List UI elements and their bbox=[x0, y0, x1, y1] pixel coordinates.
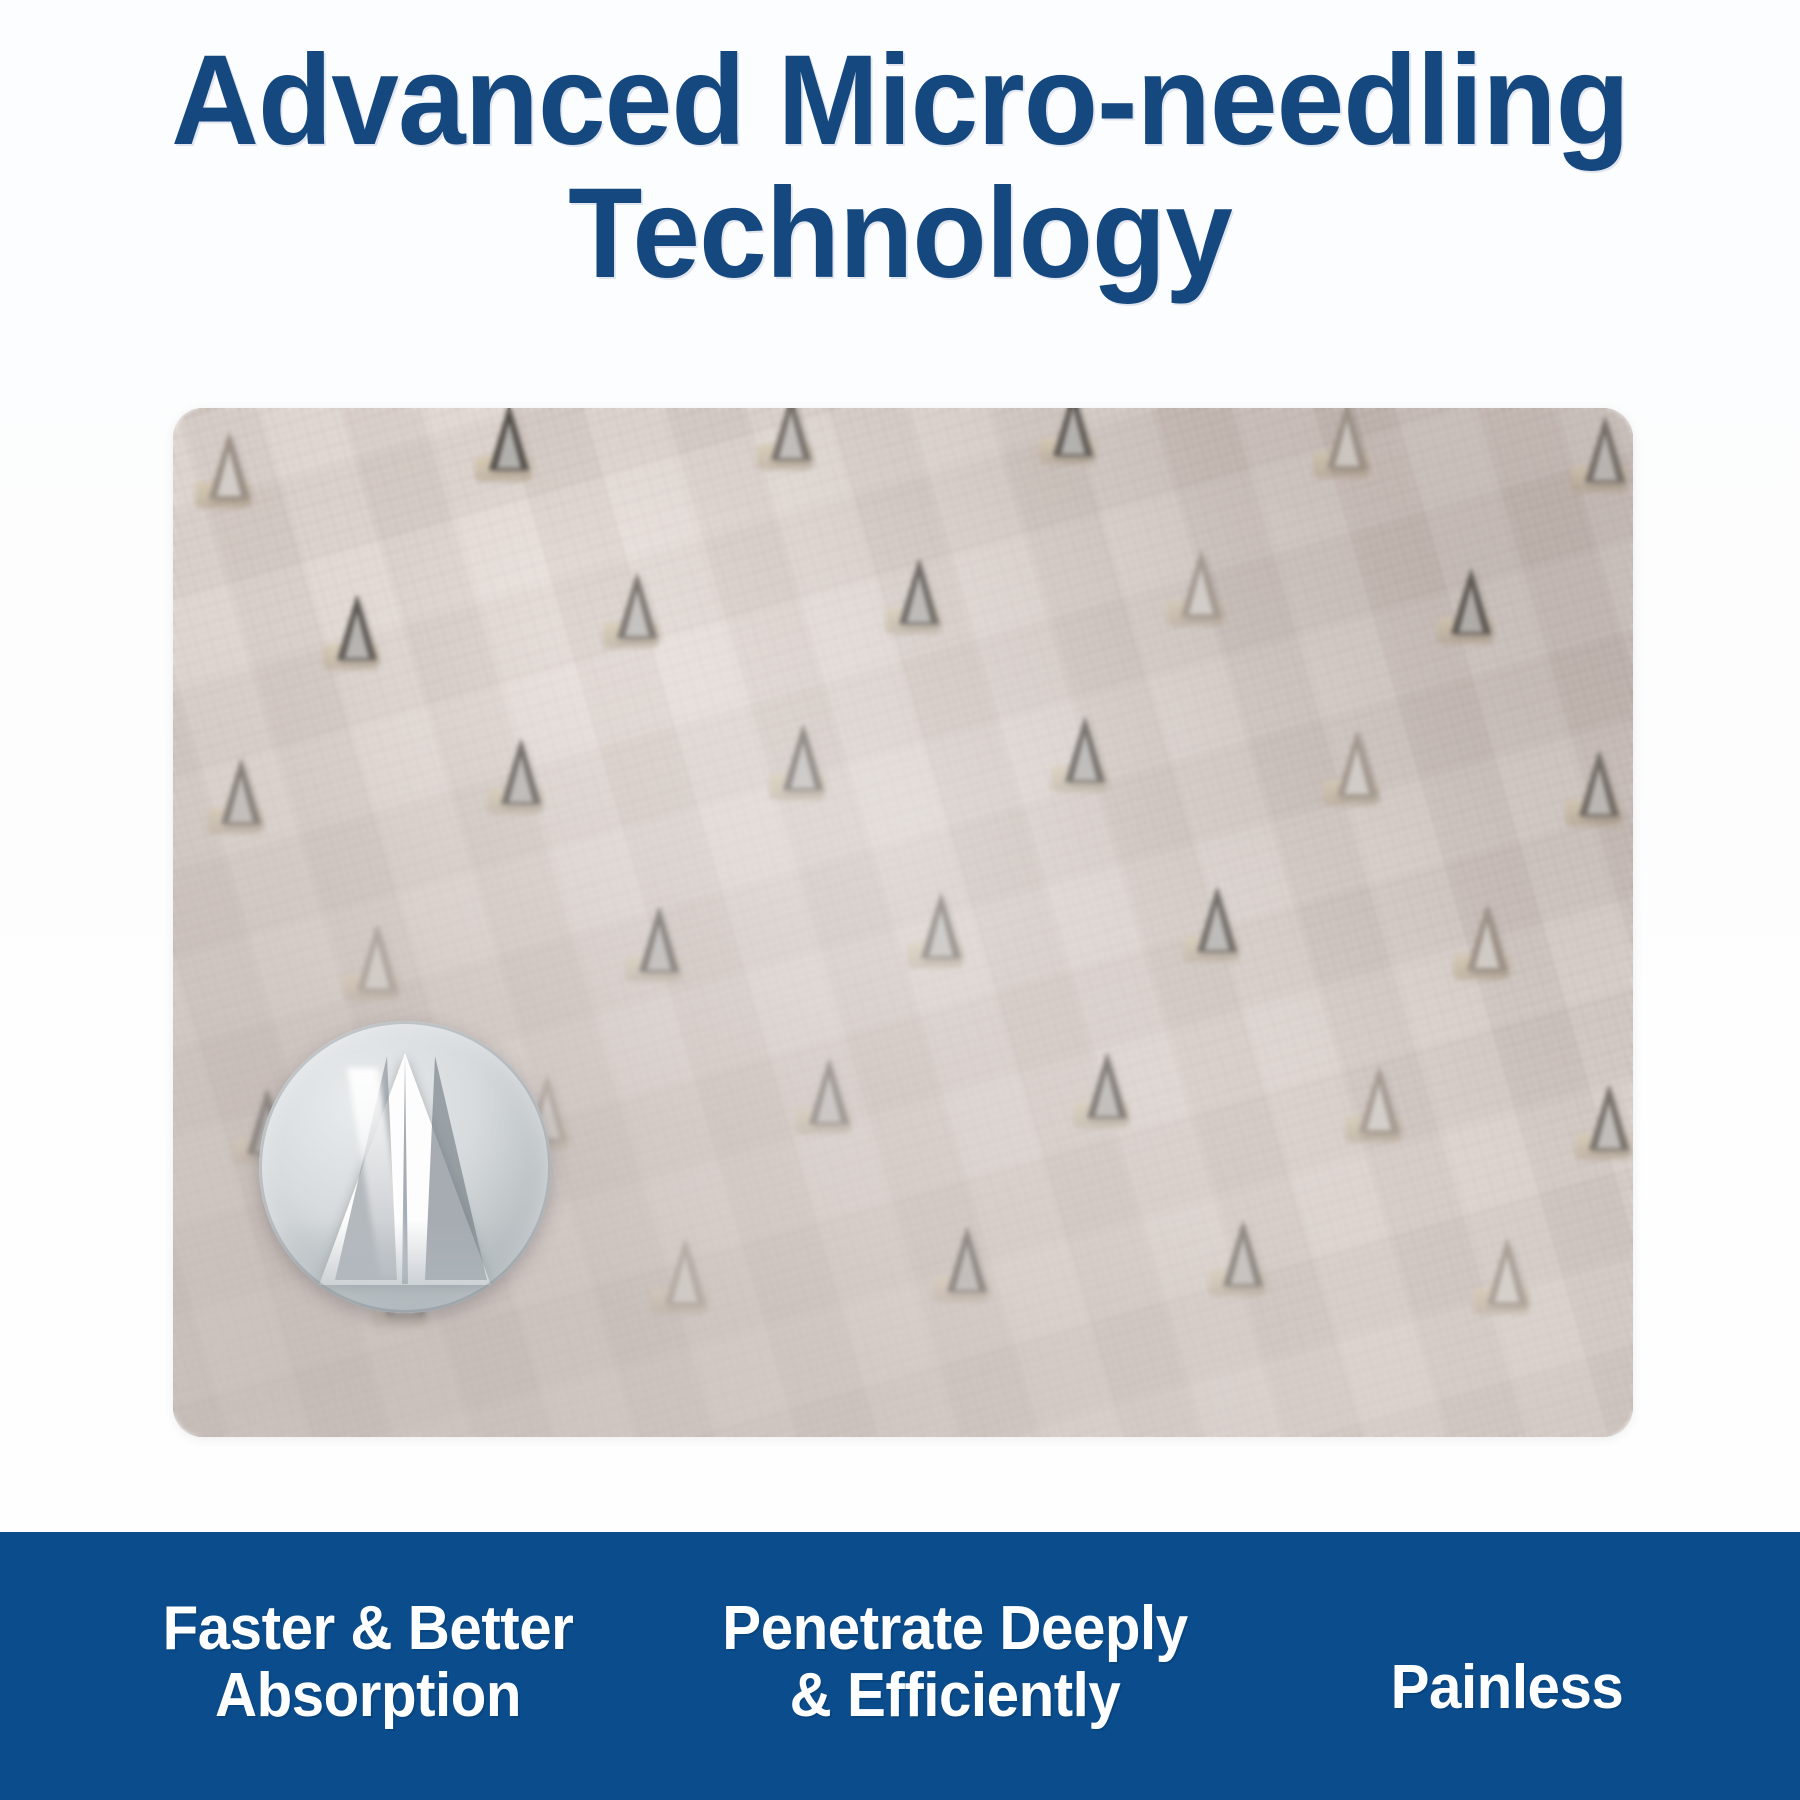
needle-closeup-inset bbox=[259, 1021, 551, 1313]
page-title: Advanced Micro-needling Technology bbox=[0, 34, 1800, 300]
benefit-item-painless: Painless bbox=[1305, 1655, 1709, 1722]
microneedle-array-photo bbox=[173, 408, 1633, 1437]
title-line-1: Advanced Micro-needling bbox=[45, 34, 1755, 167]
benefits-banner: Faster & Better Absorption Penetrate Dee… bbox=[0, 1532, 1800, 1800]
product-feature-banner: Advanced Micro-needling Technology bbox=[0, 0, 1800, 1800]
inset-circle-rim bbox=[259, 1021, 551, 1313]
benefit-item-absorption: Faster & Better Absorption bbox=[133, 1596, 603, 1730]
title-line-2: Technology bbox=[45, 167, 1755, 300]
benefit-item-penetration: Penetrate Deeply & Efficiently bbox=[711, 1596, 1200, 1730]
